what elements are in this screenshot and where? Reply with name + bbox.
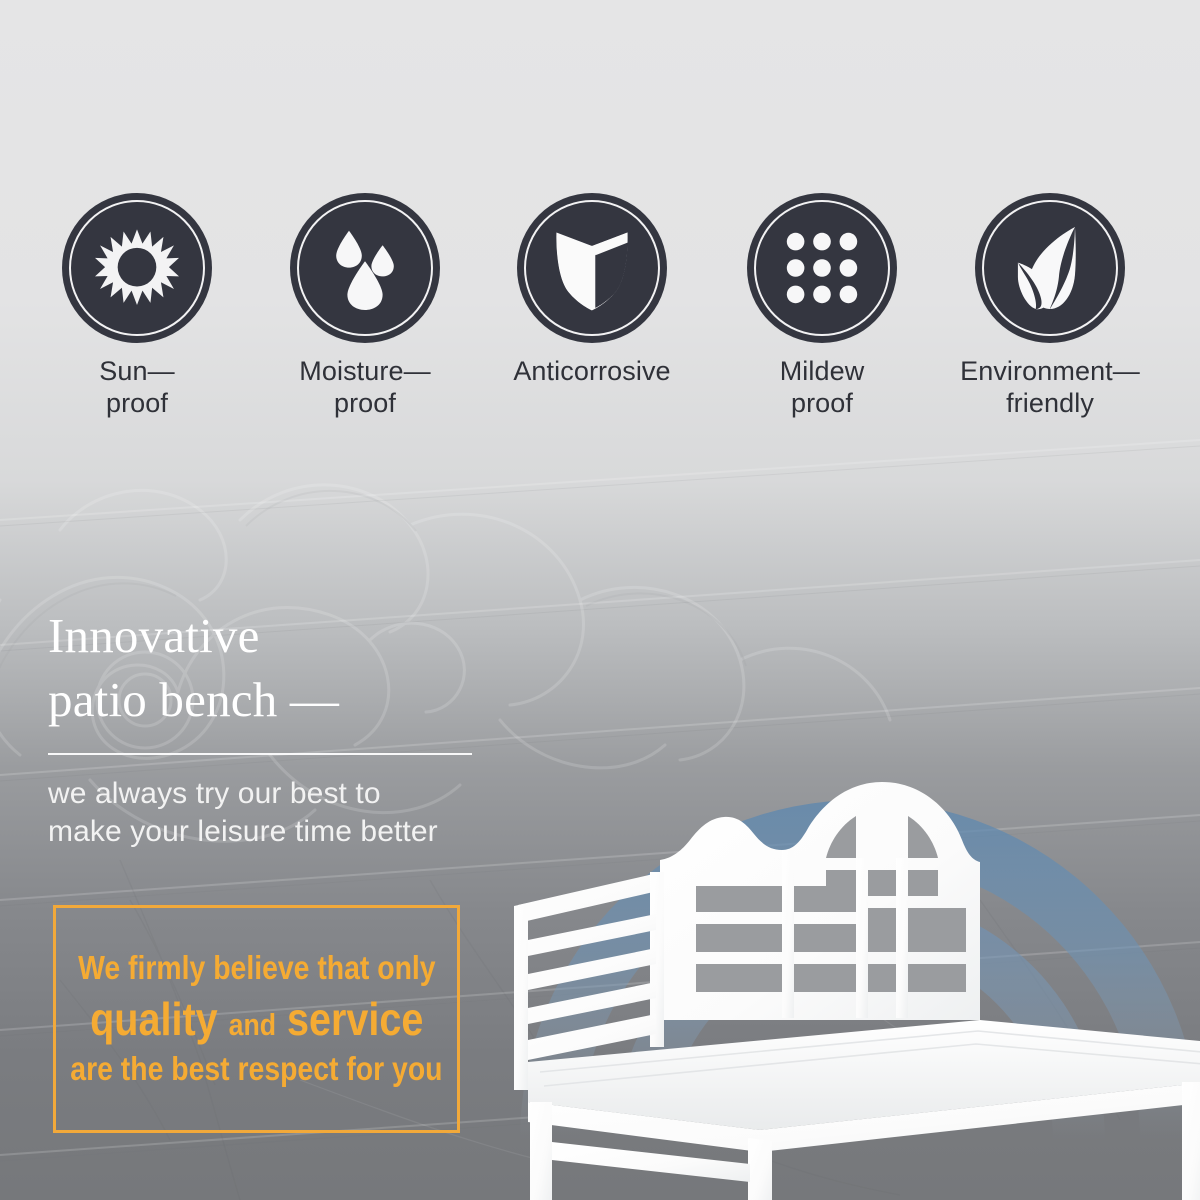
feature-environment-friendly: Environment— friendly xyxy=(950,193,1150,419)
feature-label: Environment— friendly xyxy=(950,356,1150,419)
feature-anticorrosive: Anticorrosive xyxy=(492,193,692,388)
feature-label: Moisture— proof xyxy=(265,356,465,419)
feature-moisture-proof: Moisture— proof xyxy=(265,193,465,419)
water-drops-icon xyxy=(325,226,405,310)
subheadline: we always try our best to make your leis… xyxy=(48,775,508,851)
sun-icon xyxy=(95,226,179,310)
sun-icon-badge xyxy=(62,193,212,343)
leaf-icon xyxy=(1009,223,1091,313)
product-feature-poster: Sun— proof Moisture— proof xyxy=(0,0,1200,1200)
quote-line-3: are the best respect for you xyxy=(70,1051,442,1088)
water-drops-icon-badge xyxy=(290,193,440,343)
leaf-icon-badge xyxy=(975,193,1125,343)
feature-icon-row: Sun— proof Moisture— proof xyxy=(0,193,1200,443)
dot-grid-icon xyxy=(782,228,862,308)
shield-icon xyxy=(553,224,631,312)
feature-sun-proof: Sun— proof xyxy=(37,193,237,419)
feature-mildew-proof: Mildew proof xyxy=(722,193,922,419)
feature-label: Mildew proof xyxy=(722,356,922,419)
dot-grid-icon-badge xyxy=(747,193,897,343)
quote-word-quality: quality xyxy=(90,993,217,1045)
patio-bench-right-section xyxy=(890,690,1200,1200)
headline-block: Innovative patio bench — we always try o… xyxy=(48,604,508,852)
page-title: Innovative patio bench — xyxy=(48,604,508,731)
quote-word-service: service xyxy=(287,993,423,1045)
shield-icon-badge xyxy=(517,193,667,343)
divider-rule xyxy=(48,753,472,755)
quote-line-1: We firmly believe that only xyxy=(78,950,435,987)
feature-label: Anticorrosive xyxy=(492,356,692,388)
feature-label: Sun— proof xyxy=(37,356,237,419)
quote-word-and: and xyxy=(228,1007,275,1042)
quality-service-callout-box: We firmly believe that only quality and … xyxy=(53,905,460,1133)
quote-line-2: quality and service xyxy=(90,993,423,1046)
